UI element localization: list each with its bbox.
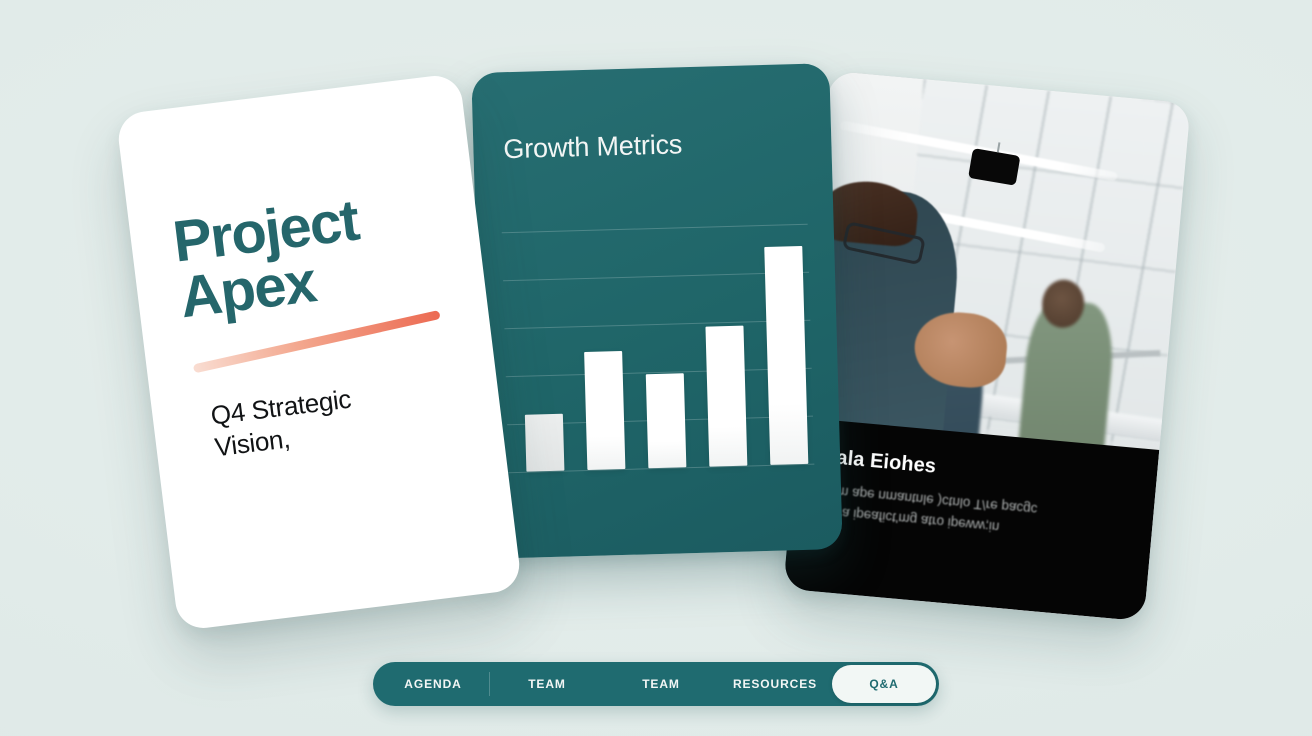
page-subtitle: Q4 Strategic Vision, [209,368,473,464]
nav-item-agenda[interactable]: AGENDA [376,665,490,703]
chart-bar [764,246,808,465]
section-navbar[interactable]: AGENDATEAMTEAMRESOURCESQ&A [373,662,939,706]
bar-chart [502,224,815,472]
chart-bar [525,414,565,472]
chart-title: Growth Metrics [503,129,683,165]
photo-card[interactable]: eala Eiohes gum ape nmantnle )ctnlo T/re… [783,71,1191,622]
chart-bars [520,224,809,472]
page-title: Project Apex [170,182,456,327]
title-card-content: Project Apex Q4 Strategic Vision, [170,182,473,467]
growth-metrics-card[interactable]: Growth Metrics [471,63,842,559]
nav-item-team[interactable]: TEAM [490,665,604,703]
nav-item-team[interactable]: TEAM [604,665,718,703]
chart-bar [646,373,687,468]
nav-item-resources[interactable]: RESOURCES [718,665,832,703]
title-card[interactable]: Project Apex Q4 Strategic Vision, [116,73,523,631]
nav-item-q-a[interactable]: Q&A [832,665,936,703]
chart-bar [705,326,747,467]
chart-bar [584,351,625,470]
slide-stage: eala Eiohes gum ape nmantnle )ctnlo T/re… [0,0,1312,736]
